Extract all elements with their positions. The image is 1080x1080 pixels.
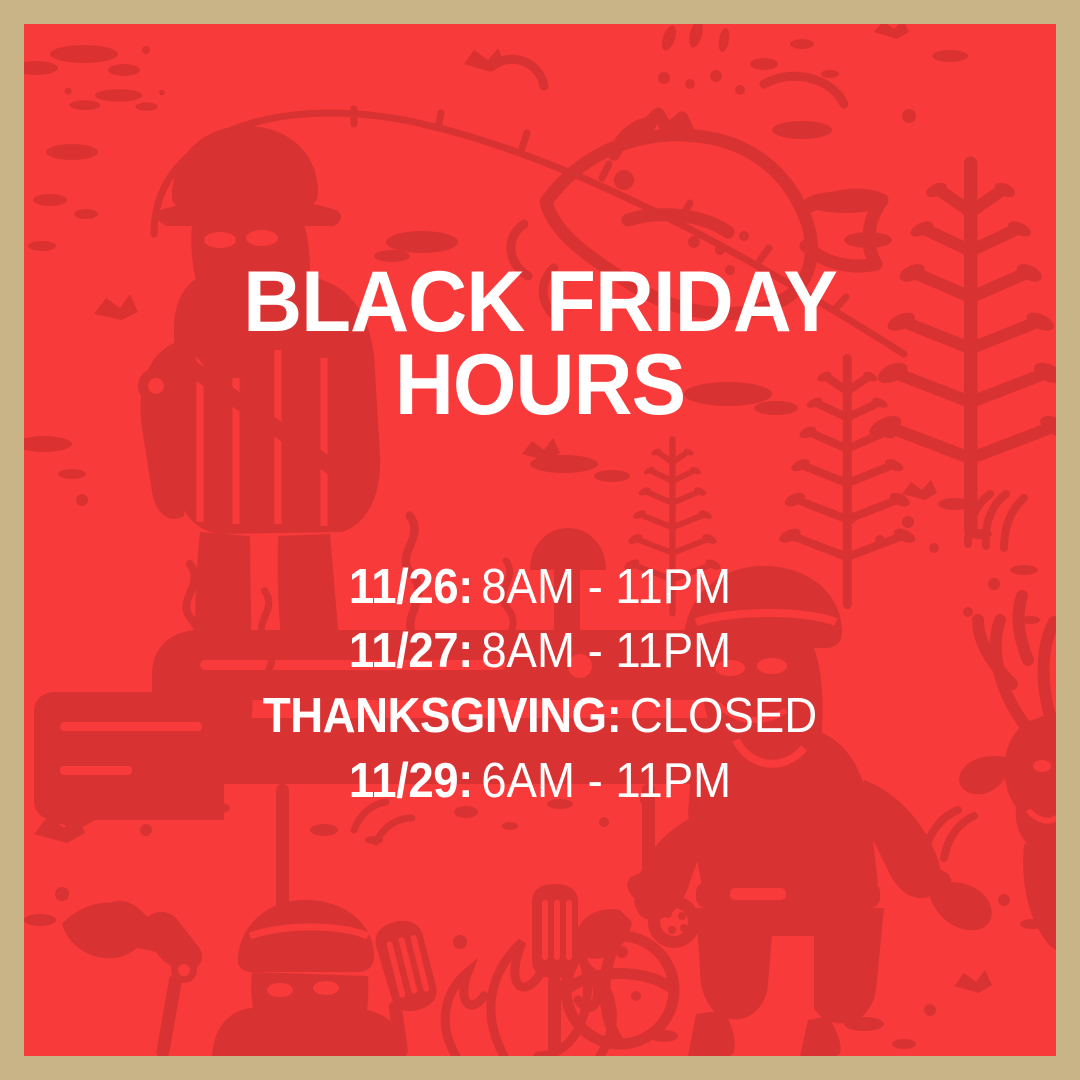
- poster-content: BLACK FRIDAY HOURS 11/26:8AM - 11PM 11/2…: [24, 24, 1056, 1056]
- hours-time-value: 8AM - 11PM: [481, 624, 731, 678]
- hours-time-value: 8AM - 11PM: [481, 560, 731, 614]
- title-line-1: BLACK FRIDAY: [50, 261, 1030, 344]
- hours-row: 11/26:8AM - 11PM: [60, 555, 1020, 620]
- title-block: BLACK FRIDAY HOURS: [24, 261, 1056, 428]
- hours-list: 11/26:8AM - 11PM 11/27:8AM - 11PM THANKS…: [24, 555, 1056, 814]
- hours-day-label: 11/27:: [349, 624, 473, 678]
- poster-canvas: BLACK FRIDAY HOURS 11/26:8AM - 11PM 11/2…: [24, 24, 1056, 1056]
- hours-day-label: 11/26:: [349, 560, 473, 614]
- hours-day-label: 11/29:: [349, 754, 473, 808]
- hours-day-label: THANKSGIVING:: [263, 689, 622, 743]
- hours-row: 11/27:8AM - 11PM: [60, 619, 1020, 684]
- hours-time-value: 6AM - 11PM: [481, 754, 731, 808]
- hours-row: THANKSGIVING:CLOSED: [60, 684, 1020, 749]
- title-line-2: HOURS: [50, 344, 1030, 427]
- poster-frame: BLACK FRIDAY HOURS 11/26:8AM - 11PM 11/2…: [0, 0, 1080, 1080]
- hours-time-value: CLOSED: [630, 689, 817, 743]
- hours-row: 11/29:6AM - 11PM: [60, 749, 1020, 814]
